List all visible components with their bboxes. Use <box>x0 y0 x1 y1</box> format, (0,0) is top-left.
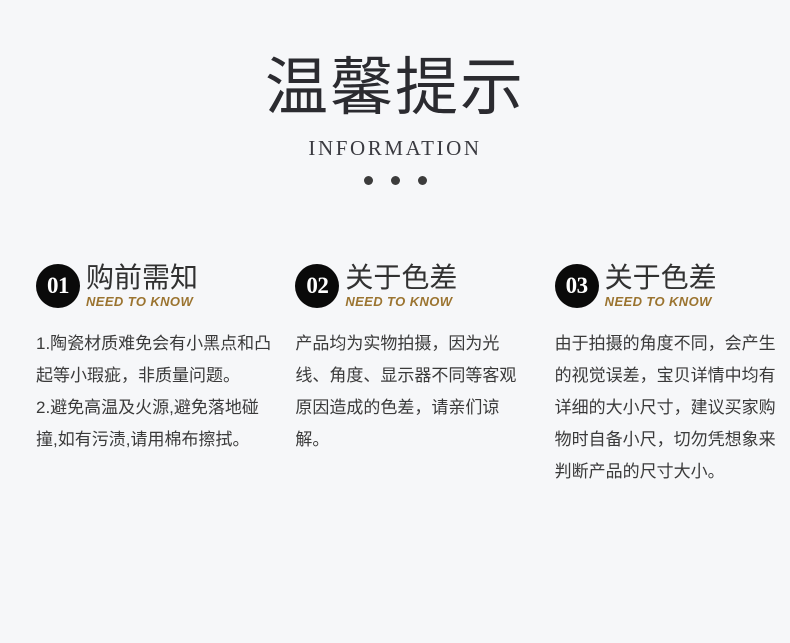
section-02: 02 关于色差 NEED TO KNOW 产品均为实物拍摄，因为光线、角度、显示… <box>295 262 530 488</box>
section-heading-group: 购前需知 NEED TO KNOW <box>86 262 198 309</box>
section-number-badge: 01 <box>36 264 80 308</box>
section-heading-group: 关于色差 NEED TO KNOW <box>345 262 457 309</box>
page-title: 温馨提示 <box>0 52 790 124</box>
body-paragraph: 1.陶瓷材质难免会有小黑点和凸起等小瑕疵，非质量问题。 <box>36 328 271 392</box>
section-number-badge: 03 <box>555 264 599 308</box>
section-03: 03 关于色差 NEED TO KNOW 由于拍摄的角度不同，会产生的视觉误差，… <box>555 262 790 488</box>
page-header: 温馨提示 INFORMATION <box>0 52 790 185</box>
section-number-badge: 02 <box>295 264 339 308</box>
decorative-dots <box>0 176 790 185</box>
section-heading-cn: 关于色差 <box>345 262 457 293</box>
page-subtitle: INFORMATION <box>0 136 790 160</box>
section-header: 01 购前需知 NEED TO KNOW <box>36 262 271 314</box>
body-paragraph: 由于拍摄的角度不同，会产生的视觉误差，宝贝详情中均有详细的大小尺寸，建议买家购物… <box>555 328 790 488</box>
information-page: 温馨提示 INFORMATION 01 购前需知 NEED TO KNOW 1.… <box>0 0 790 643</box>
section-heading-en: NEED TO KNOW <box>605 294 717 309</box>
section-01: 01 购前需知 NEED TO KNOW 1.陶瓷材质难免会有小黑点和凸起等小瑕… <box>36 262 271 488</box>
section-heading-en: NEED TO KNOW <box>86 294 198 309</box>
section-body: 产品均为实物拍摄，因为光线、角度、显示器不同等客观原因造成的色差，请亲们谅解。 <box>295 328 530 456</box>
section-body: 1.陶瓷材质难免会有小黑点和凸起等小瑕疵，非质量问题。 2.避免高温及火源,避免… <box>36 328 271 456</box>
section-header: 03 关于色差 NEED TO KNOW <box>555 262 790 314</box>
dot-icon <box>418 176 427 185</box>
section-heading-en: NEED TO KNOW <box>345 294 457 309</box>
section-header: 02 关于色差 NEED TO KNOW <box>295 262 530 314</box>
body-paragraph: 2.避免高温及火源,避免落地碰撞,如有污渍,请用棉布擦拭。 <box>36 392 271 456</box>
body-paragraph: 产品均为实物拍摄，因为光线、角度、显示器不同等客观原因造成的色差，请亲们谅解。 <box>295 328 530 456</box>
section-body: 由于拍摄的角度不同，会产生的视觉误差，宝贝详情中均有详细的大小尺寸，建议买家购物… <box>555 328 790 488</box>
section-heading-cn: 关于色差 <box>605 262 717 293</box>
sections-row: 01 购前需知 NEED TO KNOW 1.陶瓷材质难免会有小黑点和凸起等小瑕… <box>0 262 790 488</box>
section-heading-cn: 购前需知 <box>86 262 198 293</box>
section-heading-group: 关于色差 NEED TO KNOW <box>605 262 717 309</box>
dot-icon <box>364 176 373 185</box>
dot-icon <box>391 176 400 185</box>
